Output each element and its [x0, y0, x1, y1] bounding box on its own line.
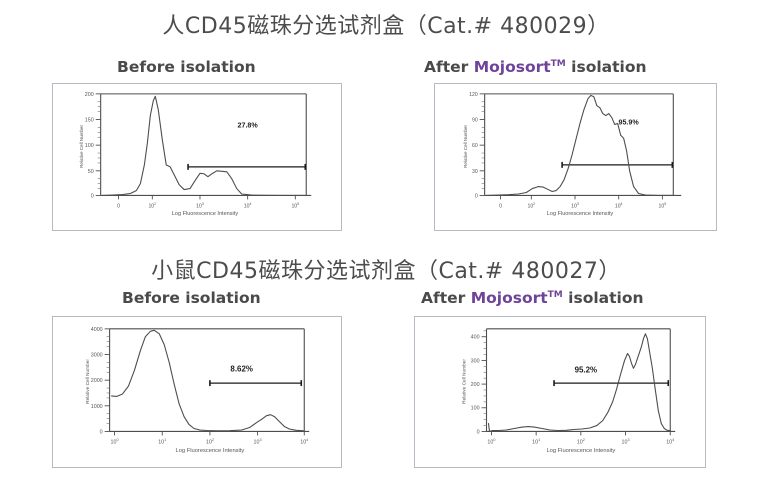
ytick-label: 100: [85, 143, 94, 149]
ytick-label: 0: [100, 429, 103, 435]
gate-percentage-label: 27.8%: [238, 121, 259, 129]
xtick-label: 0: [499, 203, 502, 209]
ytick-label: 200: [471, 382, 480, 388]
xtick-label: 105: [291, 202, 299, 209]
xtick-label: 103: [254, 438, 262, 445]
heading-suffix: isolation: [566, 58, 647, 76]
trademark-symbol: TM: [551, 59, 566, 69]
ytick-label: 2000: [91, 378, 103, 384]
section-title-human: 人CD45磁珠分选试剂盒（Cat.# 480029）: [0, 8, 772, 40]
xtick-label: 102: [527, 202, 535, 209]
ytick-label: 50: [88, 169, 94, 175]
chart-panel-human-after: 120 90 60 30 0: [434, 83, 717, 231]
xtick-label: 101: [158, 438, 166, 445]
brand-name-mojosort: MojosortTM: [471, 289, 563, 307]
xtick-label: 0: [117, 203, 120, 209]
ytick-label: 100: [471, 406, 480, 412]
chart-panel-human-before: 200 150 100 50 0: [52, 83, 342, 231]
ytick-label: 60: [472, 143, 478, 149]
y-axis-title: Relative Cell Number: [462, 359, 468, 404]
ytick-label: 200: [85, 92, 94, 98]
brand-text: Mojosort: [474, 58, 551, 76]
panel-heading-mouse-before: Before isolation: [122, 289, 261, 307]
ytick-label: 300: [471, 358, 480, 364]
histogram-curve: [112, 330, 305, 431]
histogram-curve: [487, 95, 674, 195]
xtick-label: 102: [206, 438, 214, 445]
brand-text: Mojosort: [471, 289, 548, 307]
xtick-label: 103: [622, 438, 630, 445]
ytick-label: 3000: [91, 352, 103, 358]
chart-panel-mouse-after: 400 300 200 100 0: [414, 316, 706, 468]
x-axis-title: Log Fluorescence Intensity: [546, 448, 615, 454]
xtick-label: 102: [577, 438, 585, 445]
ytick-label: 120: [469, 92, 478, 98]
xtick-label: 104: [666, 438, 674, 445]
section-title-mouse: 小鼠CD45磁珠分选试剂盒（Cat.# 480027）: [0, 253, 772, 285]
y-axis-title: Relative Cell Number: [463, 125, 468, 168]
figure-root: 人CD45磁珠分选试剂盒（Cat.# 480029） Before isolat…: [0, 0, 772, 494]
ytick-label: 90: [472, 117, 478, 123]
ytick-label: 1000: [91, 404, 103, 410]
trademark-symbol: TM: [548, 290, 563, 300]
chart-svg-mouse-before: 4000 3000 2000 1000 0: [53, 317, 341, 467]
heading-prefix: After: [424, 58, 474, 76]
xtick-label: 100: [487, 438, 495, 445]
x-axis-title: Log Fluorescence Intensity: [547, 211, 614, 217]
ytick-label: 30: [472, 169, 478, 175]
xtick-label: 101: [532, 438, 540, 445]
chart-svg-human-after: 120 90 60 30 0: [435, 84, 716, 230]
gate-percentage-label: 95.2%: [575, 365, 597, 374]
brand-name-mojosort: MojosortTM: [474, 58, 566, 76]
xtick-label: 103: [571, 202, 579, 209]
ytick-label: 0: [475, 193, 478, 199]
ytick-label: 150: [85, 117, 94, 123]
xtick-label: 105: [659, 202, 667, 209]
ytick-label: 0: [91, 193, 94, 199]
y-axis-title: Relative Cell Number: [85, 359, 91, 404]
xtick-label: 104: [300, 438, 308, 445]
gate-percentage-label: 8.62%: [230, 364, 252, 373]
chart-svg-human-before: 200 150 100 50 0: [53, 84, 341, 230]
xtick-label: 103: [196, 202, 204, 209]
chart-panel-mouse-before: 4000 3000 2000 1000 0: [52, 316, 342, 468]
heading-prefix: After: [421, 289, 471, 307]
y-axis-title: Relative Cell Number: [79, 125, 84, 168]
xtick-label: 100: [111, 438, 119, 445]
chart-svg-mouse-after: 400 300 200 100 0: [415, 317, 705, 467]
heading-suffix: isolation: [563, 289, 644, 307]
ytick-label: 4000: [91, 327, 103, 333]
x-axis-title: Log Fluorescence Intensity: [176, 448, 245, 454]
xtick-label: 104: [244, 202, 252, 209]
xtick-label: 102: [148, 202, 156, 209]
panel-heading-human-before: Before isolation: [117, 58, 256, 76]
panel-heading-mouse-after: After MojosortTM isolation: [421, 289, 644, 307]
ytick-label: 400: [471, 335, 480, 341]
panel-heading-human-after: After MojosortTM isolation: [424, 58, 647, 76]
ytick-label: 0: [477, 429, 480, 435]
x-axis-title: Log Fluorescence Intensity: [172, 211, 239, 217]
gate-percentage-label: 95.9%: [619, 118, 640, 126]
histogram-curve: [103, 96, 307, 195]
xtick-label: 104: [615, 202, 623, 209]
